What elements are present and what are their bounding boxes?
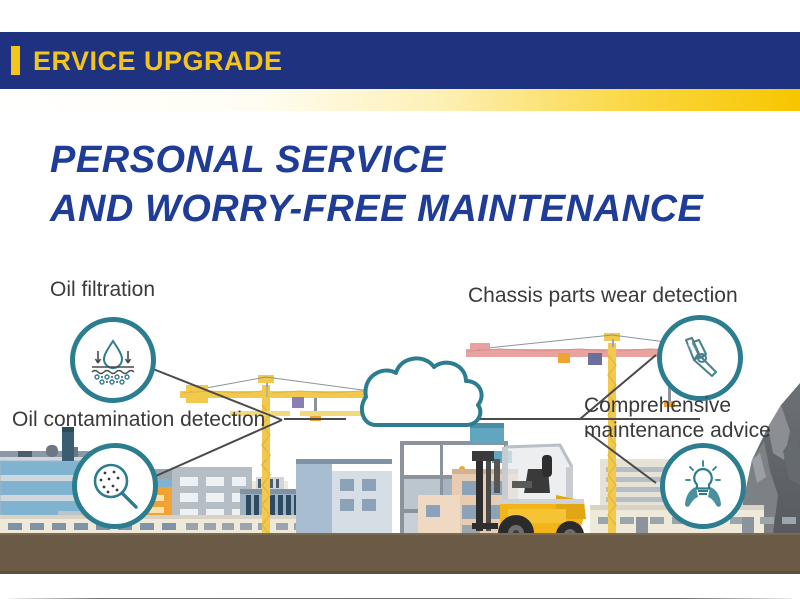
cloud-logo-shape	[362, 358, 482, 425]
header-accent-bar	[11, 46, 20, 75]
lightbulb-in-hands-glyph	[674, 457, 732, 515]
headline-block: PERSONAL SERVICE AND WORRY-FREE MAINTENA…	[50, 136, 770, 234]
feature-label-oil-filtration: Oil filtration	[50, 277, 155, 303]
vernier-caliper-glyph	[672, 330, 728, 386]
vernier-caliper-icon[interactable]	[657, 315, 743, 401]
gradient-band	[0, 89, 800, 111]
oil-droplet-filter-glyph	[86, 333, 140, 387]
bottom-white-strip	[0, 574, 800, 615]
magnifier-particles-icon[interactable]	[72, 443, 158, 529]
feature-label-oil-contamination: Oil contamination detection	[12, 407, 265, 433]
bottom-rule	[8, 598, 792, 599]
lightbulb-in-hands-icon[interactable]	[660, 443, 746, 529]
feature-label-chassis-wear: Chassis parts wear detection	[468, 283, 738, 309]
centre-blue-building	[296, 459, 392, 541]
poster-root: ERVICE UPGRADE PERSONAL SERVICE AND WORR…	[0, 0, 800, 615]
magnifier-particles-glyph	[87, 458, 143, 514]
top-white-strip	[0, 0, 800, 32]
feature-label-maintenance-advice: Comprehensive maintenance advice	[584, 393, 784, 443]
headline-line-2: AND WORRY-FREE MAINTENANCE	[50, 185, 770, 234]
headline-line-1: PERSONAL SERVICE	[50, 136, 770, 185]
maintenance-advice-line-1: Comprehensive	[584, 393, 784, 418]
ground	[0, 535, 800, 571]
maintenance-advice-line-2: maintenance advice	[584, 418, 784, 443]
oil-droplet-filter-icon[interactable]	[70, 317, 156, 403]
illustration-stage: GUOPAI Electric forklift Oil filtration	[0, 255, 800, 615]
header-title: ERVICE UPGRADE	[33, 45, 283, 77]
